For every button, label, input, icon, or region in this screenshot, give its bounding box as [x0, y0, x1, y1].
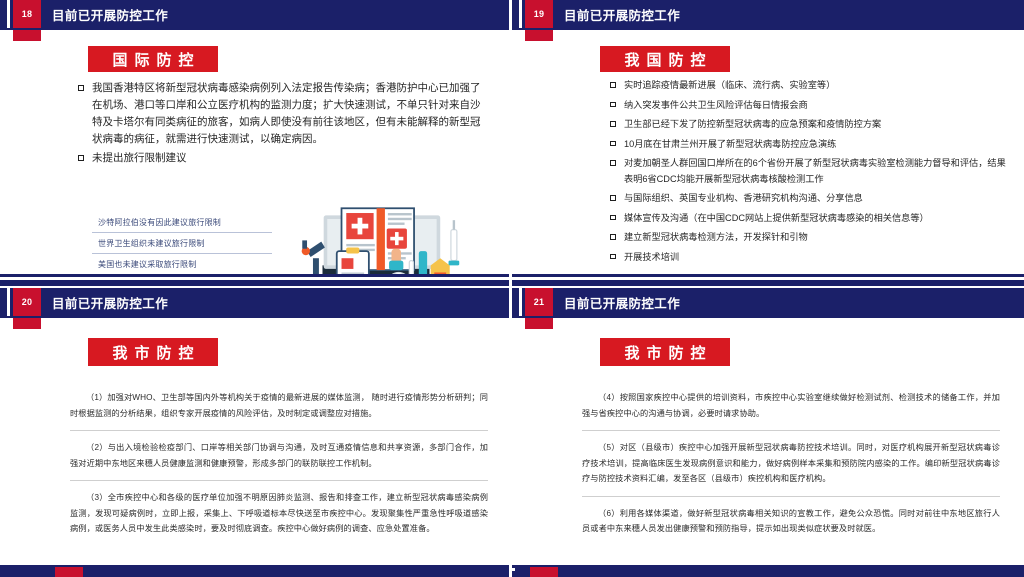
section-title-box: 国际防控 [88, 46, 218, 72]
bullet-text: 纳入突发事件公共卫生风险评估每日情报会商 [624, 98, 1010, 114]
square-bullet-icon [610, 121, 616, 127]
paragraph: （4）按照国家疾控中心提供的培训资料，市疾控中心实验室继续做好检测试剂、检测技术… [582, 390, 1000, 431]
bullet-list: 我国香港特区将新型冠状病毒感染病例列入法定报告传染病；香港防护中心已加强了在机场… [78, 80, 486, 169]
section-title-box: 我国防控 [600, 46, 730, 72]
bullet-text: 10月底在甘肃兰州开展了新型冠状病毒防控应急演练 [624, 137, 1010, 153]
bullet-text: 我国香港特区将新型冠状病毒感染病例列入法定报告传染病；香港防护中心已加强了在机场… [92, 80, 486, 148]
bullet-text: 与国际组织、英国专业机构、香港研究机构沟通、分享信息 [624, 191, 1010, 207]
slide-thumbnail-20[interactable]: 20 目前已开展防控工作 我市防控 （1）加强对WHO、卫生部等国内外等机构关于… [0, 288, 512, 577]
list-item[interactable]: 美国也未建议采取旅行限制 [92, 254, 272, 274]
list-item[interactable]: 沙特阿拉伯没有因此建议旅行限制 [92, 212, 272, 233]
header-underline [0, 316, 509, 318]
header-gap-divider [519, 288, 522, 316]
slide-body: 我市防控 （1）加强对WHO、卫生部等国内外等机构关于疫情的最新进展的媒体监测，… [0, 322, 509, 563]
bullet-text: 实时追踪疫情最新进展（临床、流行病、实验室等） [624, 78, 1010, 94]
paragraph: （5）对区（县级市）疾控中心加强开展新型冠状病毒防控技术培训。同时，对医疗机构展… [582, 440, 1000, 497]
square-bullet-icon [610, 160, 616, 166]
travel-advisory-link-list: 沙特阿拉伯没有因此建议旅行限制 世界卫生组织未建议旅行限制 美国也未建议采取旅行… [92, 212, 272, 274]
list-item: 我国香港特区将新型冠状病毒感染病例列入法定报告传染病；香港防护中心已加强了在机场… [78, 80, 486, 148]
paragraph-list: （4）按照国家疾控中心提供的培训资料，市疾控中心实验室继续做好检测试剂、检测技术… [582, 390, 1000, 555]
slide-header-title: 目前已开展防控工作 [564, 288, 680, 316]
square-bullet-icon [610, 234, 616, 240]
header-underline [512, 28, 1024, 30]
slide-header-title: 目前已开展防控工作 [52, 288, 168, 316]
square-bullet-icon [610, 102, 616, 108]
square-bullet-icon [78, 155, 84, 161]
square-bullet-icon [610, 82, 616, 88]
list-item: 建立新型冠状病毒检测方法，开发探针和引物 [610, 230, 1010, 246]
header-underline [0, 28, 509, 30]
list-item: 未提出旅行限制建议 [78, 150, 486, 167]
footer-bar [0, 280, 509, 286]
list-item: 10月底在甘肃兰州开展了新型冠状病毒防控应急演练 [610, 137, 1010, 153]
list-item: 对麦加朝圣人群回国口岸所在的6个省份开展了新型冠状病毒实验室检测能力督导和评估，… [610, 156, 1010, 187]
slide-body: 国际防控 我国香港特区将新型冠状病毒感染病例列入法定报告传染病；香港防护中心已加… [0, 34, 509, 272]
bullet-list: 实时追踪疫情最新进展（临床、流行病、实验室等） 纳入突发事件公共卫生风险评估每日… [610, 78, 1010, 269]
slide-deck-grid: 18 目前已开展防控工作 国际防控 我国香港特区将新型冠状病毒感染病例列入法定报… [0, 0, 1024, 577]
header-underline [512, 316, 1024, 318]
list-item: 实时追踪疫情最新进展（临床、流行病、实验室等） [610, 78, 1010, 94]
slide-header-title: 目前已开展防控工作 [564, 0, 680, 28]
square-bullet-icon [610, 215, 616, 221]
section-title-box: 我市防控 [600, 338, 730, 366]
bullet-text: 对麦加朝圣人群回国口岸所在的6个省份开展了新型冠状病毒实验室检测能力督导和评估，… [624, 156, 1010, 187]
bullet-text: 开展技术培训 [624, 250, 1010, 266]
bullet-text: 媒体宣传及沟通（在中国CDC网站上提供新型冠状病毒感染的相关信息等） [624, 211, 1010, 227]
bullet-text: 卫生部已经下发了防控新型冠状病毒的应急预案和疫情防控方案 [624, 117, 1010, 133]
list-item: 开展技术培训 [610, 250, 1010, 266]
square-bullet-icon [78, 85, 84, 91]
paragraph: （6）利用各媒体渠道，做好新型冠状病毒相关知识的宣教工作，避免公众恐慌。同时对前… [582, 506, 1000, 546]
section-title-box: 我市防控 [88, 338, 218, 366]
square-bullet-icon [610, 195, 616, 201]
list-item: 卫生部已经下发了防控新型冠状病毒的应急预案和疫情防控方案 [610, 117, 1010, 133]
slide-header-title: 目前已开展防控工作 [52, 0, 168, 28]
list-item: 纳入突发事件公共卫生风险评估每日情报会商 [610, 98, 1010, 114]
slide-thumbnail-21[interactable]: 21 目前已开展防控工作 我市防控 （4）按照国家疾控中心提供的培训资料，市疾控… [512, 288, 1024, 577]
list-item[interactable]: 世界卫生组织未建议旅行限制 [92, 233, 272, 254]
slide-thumbnail-19[interactable]: 19 目前已开展防控工作 我国防控 实时追踪疫情最新进展（临床、流行病、实验室等… [512, 0, 1024, 288]
slide-body: 我市防控 （4）按照国家疾控中心提供的培训资料，市疾控中心实验室继续做好检测试剂… [512, 322, 1024, 563]
next-slide-header-right [515, 567, 1024, 577]
paragraph: （2）与出入境检验检疫部门、口岸等相关部门协调与沟通，及时互通疫情信息和共享资源… [70, 440, 488, 481]
paragraph: （1）加强对WHO、卫生部等国内外等机构关于疫情的最新进展的媒体监测， 随时进行… [70, 390, 488, 431]
footer-bar [512, 280, 1024, 286]
square-bullet-icon [610, 254, 616, 260]
paragraph: （3）全市疾控中心和各级的医疗单位加强不明原因肺炎监测、报告和排查工作，建立新型… [70, 490, 488, 546]
square-bullet-icon [610, 141, 616, 147]
list-item: 媒体宣传及沟通（在中国CDC网站上提供新型冠状病毒感染的相关信息等） [610, 211, 1010, 227]
header-gap-divider [519, 0, 522, 28]
next-slide-badge-left [55, 567, 83, 577]
list-item: 与国际组织、英国专业机构、香港研究机构沟通、分享信息 [610, 191, 1010, 207]
paragraph-list: （1）加强对WHO、卫生部等国内外等机构关于疫情的最新进展的媒体监测， 随时进行… [70, 390, 488, 555]
next-slide-badge-right [530, 567, 558, 577]
next-slide-sliver [0, 567, 1024, 577]
slide-body: 我国防控 实时追踪疫情最新进展（临床、流行病、实验室等） 纳入突发事件公共卫生风… [512, 34, 1024, 272]
bullet-text: 未提出旅行限制建议 [92, 150, 486, 167]
header-gap-divider [7, 0, 10, 28]
header-gap-divider [7, 288, 10, 316]
slide-thumbnail-18[interactable]: 18 目前已开展防控工作 国际防控 我国香港特区将新型冠状病毒感染病例列入法定报… [0, 0, 512, 288]
bullet-text: 建立新型冠状病毒检测方法，开发探针和引物 [624, 230, 1010, 246]
